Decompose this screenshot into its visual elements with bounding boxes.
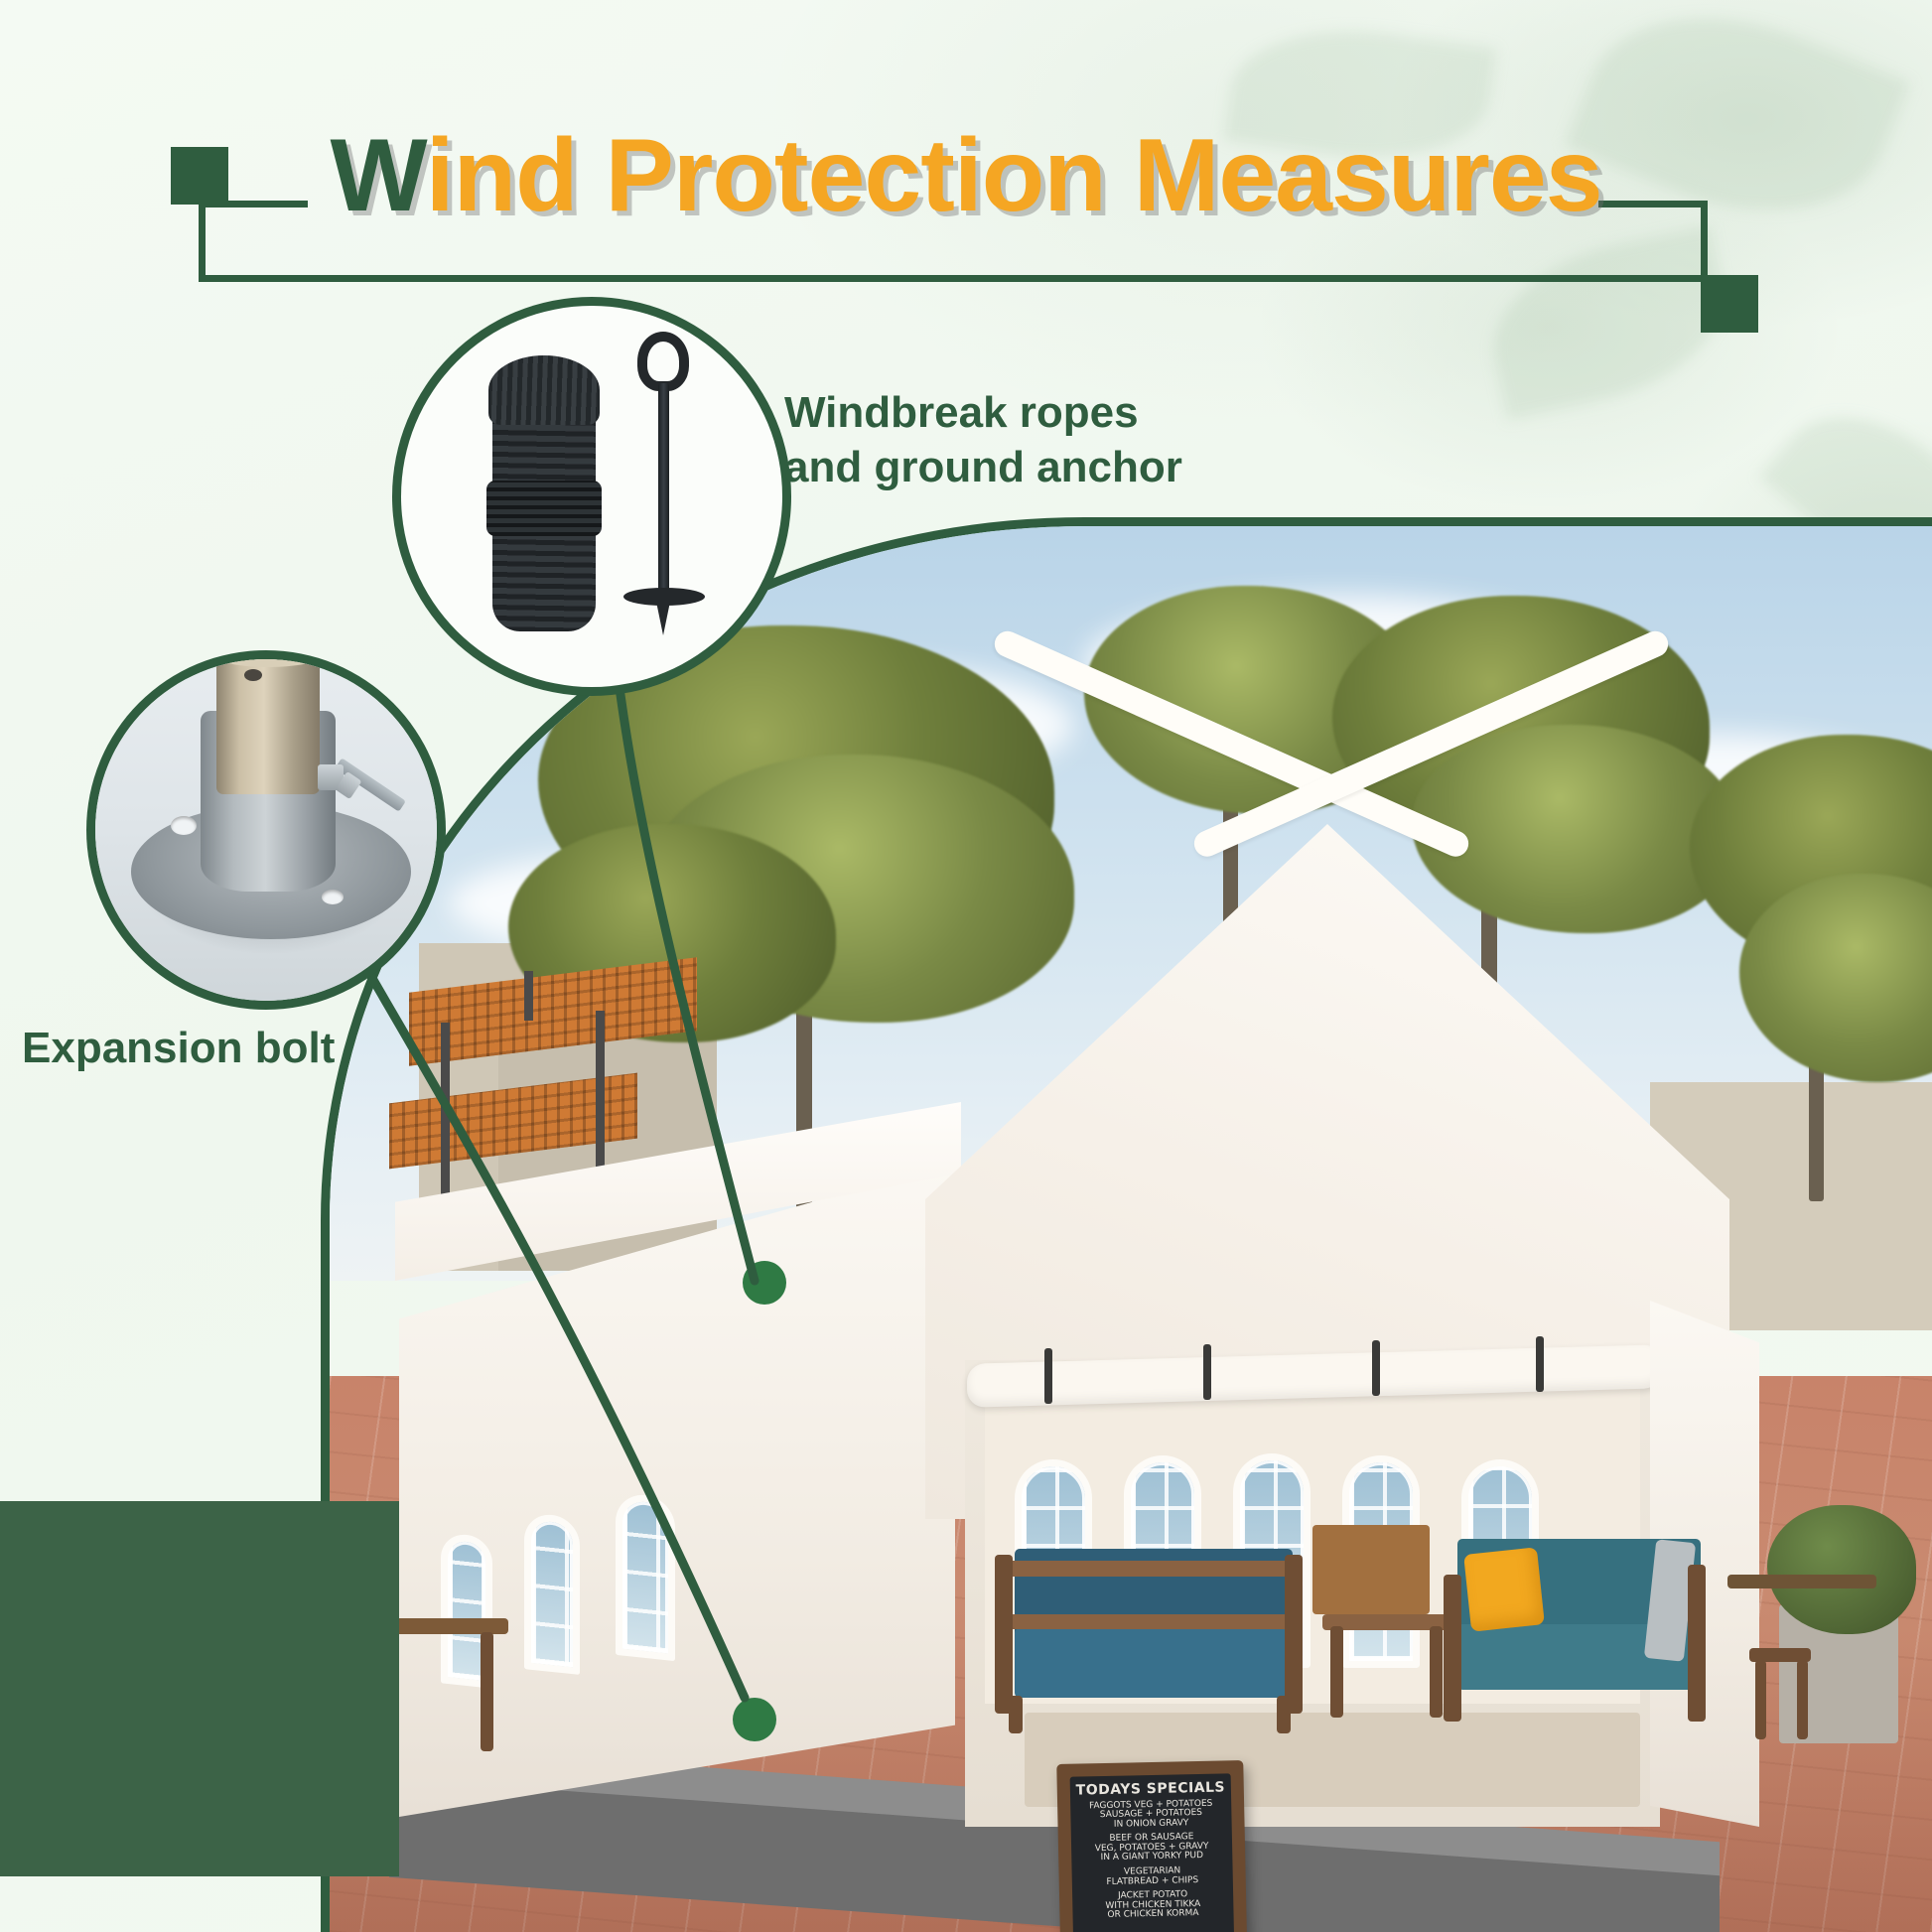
callout-label-line-2: and ground anchor <box>784 440 1182 494</box>
chalkboard-group: FAGGOTS VEG + POTATOES SAUSAGE + POTATOE… <box>1075 1799 1227 1831</box>
sofa-leg <box>1277 1696 1291 1733</box>
connector-dot-top <box>743 1261 786 1305</box>
chalkboard-group: BEEF OR SAUSAGE VEG, POTATOES + GRAVY IN… <box>1076 1833 1228 1864</box>
chalkboard-sign: TODAYS SPECIALS FAGGOTS VEG + POTATOES S… <box>1059 1762 1246 1932</box>
chair-back <box>1312 1525 1430 1614</box>
patio-table <box>1727 1575 1876 1588</box>
valance-strap <box>1203 1344 1211 1400</box>
callout-label-line-1: Expansion bolt <box>22 1021 335 1075</box>
sofa-arm <box>1688 1565 1706 1722</box>
chalkboard-face: TODAYS SPECIALS FAGGOTS VEG + POTATOES S… <box>1070 1773 1236 1932</box>
base-plate-hole <box>322 890 344 904</box>
sofa-arm <box>995 1555 1013 1714</box>
anchor-shaft <box>658 383 669 608</box>
chalkboard-line: IN ONION GRAVY <box>1076 1818 1227 1831</box>
chalkboard-title: TODAYS SPECIALS <box>1075 1780 1226 1798</box>
anchor-tip <box>656 602 670 635</box>
page-title: Wind Protection Measures <box>0 117 1932 235</box>
infographic-stage: Wind Protection Measures <box>0 0 1932 1932</box>
sofa-frame <box>1001 1561 1299 1577</box>
anchor-loop <box>637 332 689 391</box>
sofa-arm <box>1444 1575 1461 1722</box>
bracket-square-right <box>1701 275 1758 333</box>
chalkboard-line: OR CHICKEN KORMA <box>1077 1909 1228 1922</box>
sofa-arm <box>1285 1555 1303 1714</box>
valance-strap <box>1372 1340 1380 1396</box>
callout-label-line-1: Windbreak ropes <box>784 385 1182 440</box>
callout-windbreak-ropes <box>401 306 782 687</box>
patio-stool-leg <box>1797 1660 1808 1739</box>
side-table-leg <box>1330 1626 1343 1718</box>
callout-label-expansion-bolt: Expansion bolt <box>22 1021 335 1075</box>
product-photo: TODAYS SPECIALS FAGGOTS VEG + POTATOES S… <box>330 526 1932 1932</box>
sofa-seat <box>1015 1628 1298 1698</box>
sofa-leg <box>1009 1696 1023 1733</box>
pole-tube <box>216 659 320 794</box>
chalkboard-group: JACKET POTATO WITH CHICKEN TIKKA OR CHIC… <box>1077 1889 1229 1921</box>
side-table-leg <box>1430 1626 1443 1718</box>
tent-window <box>616 1492 675 1661</box>
chalkboard-group: VEGETARIAN FLATBREAD + CHIPS <box>1077 1865 1228 1887</box>
patio-table-leg <box>481 1632 493 1751</box>
page-title-rest: ind Protection Measures <box>426 118 1602 233</box>
valance-strap <box>1536 1336 1544 1392</box>
patio-stool-leg <box>1755 1660 1766 1739</box>
expansion-bolt-photo <box>95 659 437 1001</box>
title-block: Wind Protection Measures <box>0 60 1932 288</box>
base-plate-hole <box>171 816 197 835</box>
pergola-post <box>524 971 533 1021</box>
bracket-line-base <box>199 275 1708 282</box>
page-title-lead: W <box>330 118 425 233</box>
green-accent-block <box>0 1501 399 1876</box>
rope-coil-top <box>488 355 600 425</box>
callout-expansion-bolt <box>95 659 437 1001</box>
chalkboard-line: FLATBREAD + CHIPS <box>1077 1875 1228 1888</box>
pergola-post <box>441 1023 450 1211</box>
callout-label-windbreak-ropes: Windbreak ropes and ground anchor <box>784 385 1182 495</box>
sofa-frame <box>1001 1614 1299 1629</box>
valance-strap <box>1044 1348 1052 1404</box>
ground-anchor-icon <box>616 332 711 639</box>
rope-coil-band <box>486 481 602 536</box>
throw-pillow <box>1463 1547 1545 1631</box>
pole-tube-hole <box>244 669 262 681</box>
tent-window <box>524 1512 580 1675</box>
connector-dot-bottom <box>733 1698 776 1741</box>
rope-coil-icon <box>492 363 596 631</box>
